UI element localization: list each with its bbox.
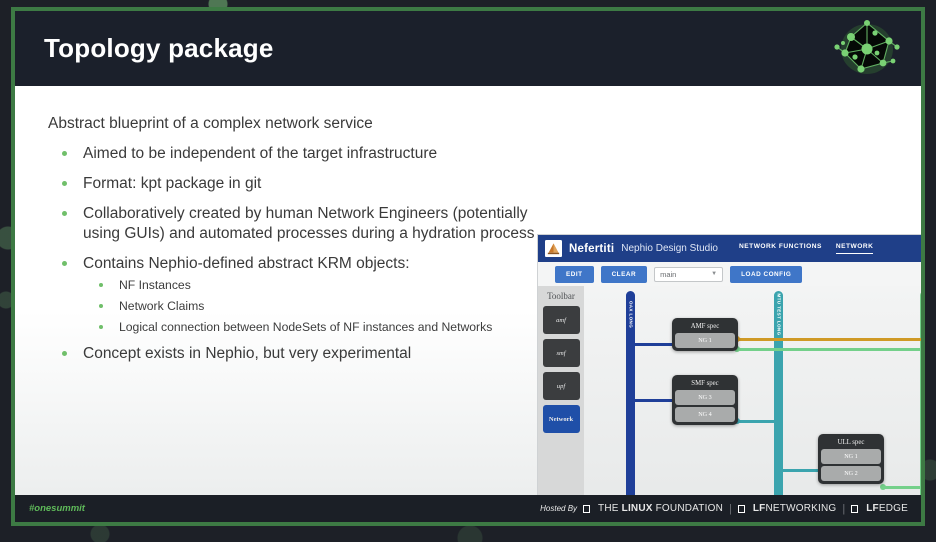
bullet-item: Collaboratively created by human Network… (48, 204, 538, 245)
sidebar-item-upf[interactable]: upf (543, 372, 580, 400)
nf-node-port[interactable]: NG 1 (675, 333, 735, 348)
sponsor-pre: THE (598, 503, 622, 514)
nf-node-port[interactable]: NG 1 (821, 449, 881, 464)
app-tab-bar: NETWORK FUNCTIONS NETWORK (739, 243, 873, 254)
branch-select[interactable]: main ▼ (654, 267, 723, 282)
lf-logo-mark-icon (851, 505, 858, 513)
nf-node-ull[interactable]: ULL spec NG 1 NG 2 (818, 434, 884, 484)
sidebar-item-network[interactable]: Network (543, 405, 580, 433)
bullet-item: Format: kpt package in git (48, 174, 538, 195)
hosted-by-group: Hosted By THE LINUX FOUNDATION | LFNETWO… (540, 503, 908, 515)
sponsor-bold: LINUX (622, 503, 653, 514)
bullet-list-level2: NF Instances Network Claims Logical conn… (83, 278, 538, 335)
link-amf-upfnet (736, 348, 921, 351)
bullet-text: Collaboratively created by human Network… (83, 204, 538, 245)
lf-logo-mark-icon (738, 505, 745, 513)
nf-node-port[interactable]: NG 4 (675, 407, 735, 422)
nf-node-port[interactable]: NG 3 (675, 390, 735, 405)
divider: | (729, 503, 732, 515)
sidebar-title: Toolbar (538, 291, 584, 301)
tab-network[interactable]: NETWORK (836, 243, 874, 254)
link-ull-upfnet (882, 486, 921, 489)
nf-node-smf[interactable]: SMF spec NG 3 NG 4 (672, 375, 738, 425)
tab-network-functions[interactable]: NETWORK FUNCTIONS (739, 243, 822, 254)
network-bar-upf[interactable]: UPF LONG (920, 291, 921, 495)
sponsor-name: LFEDGE (866, 503, 908, 514)
sponsor-post: EDGE (879, 503, 908, 514)
nephio-network-graph-icon (831, 17, 903, 81)
slide-frame: Topology package (11, 7, 925, 526)
app-header: Nefertiti Nephio Design Studio NETWORK F… (538, 235, 921, 262)
clear-button[interactable]: CLEAR (601, 266, 648, 283)
divider: | (842, 503, 845, 515)
sub-bullet-item: Network Claims (83, 299, 538, 315)
embedded-app-screenshot: Nefertiti Nephio Design Studio NETWORK F… (537, 234, 921, 495)
topology-canvas[interactable]: OAX LONG MTU TEST LONG UPF LONG ISI LONG (584, 286, 921, 495)
nf-node-port[interactable]: NG 2 (821, 466, 881, 481)
bullet-item: Concept exists in Nephio, but very exper… (48, 344, 538, 365)
page-title: Topology package (44, 33, 274, 64)
link-oax-amf (630, 343, 676, 346)
sponsor-name: LFNETWORKING (753, 503, 837, 514)
bullet-text: Contains Nephio-defined abstract KRM obj… (83, 254, 538, 275)
bullet-text: Format: kpt package in git (83, 174, 538, 195)
sponsor-name: THE LINUX FOUNDATION (598, 503, 723, 514)
bullet-list-level1: Aimed to be independent of the target in… (48, 144, 538, 364)
sub-bullet-item: NF Instances (83, 278, 538, 294)
bullet-item: Aimed to be independent of the target in… (48, 144, 538, 165)
network-bar-mtu-test[interactable]: MTU TEST LONG (774, 291, 783, 495)
app-sidebar: Toolbar amf smf upf Network (538, 286, 584, 495)
bullet-text: Concept exists in Nephio, but very exper… (83, 344, 538, 365)
bullet-content: Abstract blueprint of a complex network … (48, 114, 538, 374)
sponsor-post: FOUNDATION (653, 503, 723, 514)
sponsor-post: NETWORKING (765, 503, 836, 514)
network-bar-label: OAX LONG (628, 301, 633, 328)
app-toolbar: EDIT CLEAR main ▼ LOAD CONFIG (538, 262, 921, 286)
edit-button[interactable]: EDIT (555, 266, 594, 283)
app-subtitle: Nephio Design Studio (621, 243, 718, 254)
link-oax-smf (630, 399, 676, 402)
bullet-text: Aimed to be independent of the target in… (83, 144, 538, 165)
lf-logo-mark-icon (583, 505, 590, 513)
bullet-item: Contains Nephio-defined abstract KRM obj… (48, 254, 538, 335)
load-config-button[interactable]: LOAD CONFIG (730, 266, 802, 283)
nf-node-title: AMF spec (675, 321, 735, 333)
network-bar-oax[interactable]: OAX LONG (626, 291, 635, 495)
slide-body: Abstract blueprint of a complex network … (15, 86, 921, 495)
sub-bullet-item: Logical connection between NodeSets of N… (83, 320, 538, 336)
event-hashtag: #onesummit (29, 503, 85, 514)
app-main-area: Toolbar amf smf upf Network OAX LONG MTU… (538, 286, 921, 495)
slide-footer: #onesummit Hosted By THE LINUX FOUNDATIO… (15, 495, 921, 522)
sponsor-lf-edge: LFEDGE (851, 503, 908, 514)
lead-text: Abstract blueprint of a complex network … (48, 114, 538, 133)
sponsor-bold: LF (866, 503, 879, 514)
nf-node-title: SMF spec (675, 378, 735, 390)
nf-node-title: ULL spec (821, 437, 881, 449)
slide-title-bar: Topology package (15, 11, 921, 86)
nefertiti-sphinx-icon (545, 240, 562, 257)
hosted-by-label: Hosted By (540, 504, 577, 513)
link-amf-isi (736, 338, 921, 341)
branch-select-value: main (660, 270, 676, 279)
sidebar-item-smf[interactable]: smf (543, 339, 580, 367)
sidebar-item-amf[interactable]: amf (543, 306, 580, 334)
sponsor-bold: LF (753, 503, 766, 514)
link-endpoint-dot (880, 484, 886, 490)
sponsor-linux-foundation: THE LINUX FOUNDATION (583, 503, 723, 514)
app-brand: Nefertiti (569, 243, 614, 255)
link-smf-mtu (736, 420, 780, 423)
network-bar-label: MTU TEST LONG (776, 293, 781, 335)
nf-node-amf[interactable]: AMF spec NG 1 (672, 318, 738, 351)
sponsor-lf-networking: LFNETWORKING (738, 503, 837, 514)
chevron-down-icon: ▼ (711, 271, 717, 277)
